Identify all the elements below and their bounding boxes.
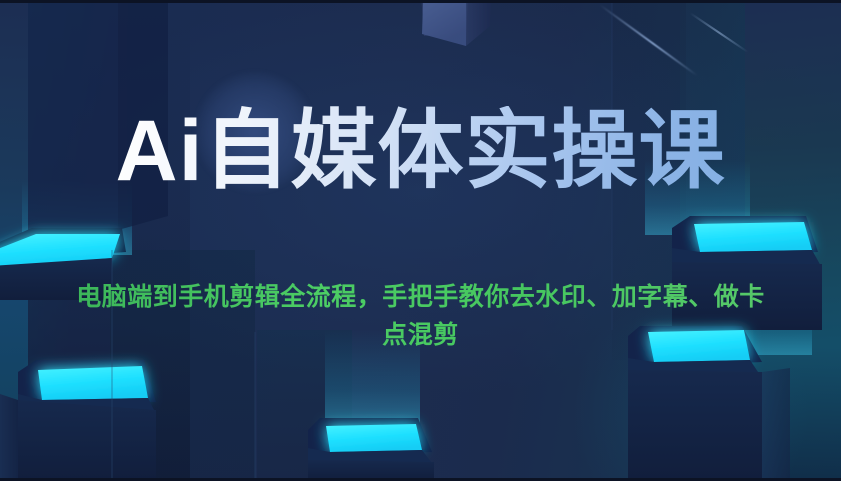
poster-canvas: Ai自媒体实操课 电脑端到手机剪辑全流程，手把手教你去水印、加字幕、做卡点混剪 — [0, 0, 841, 481]
decorative-shapes — [0, 0, 841, 481]
top-edge-bar — [0, 0, 841, 3]
cyan-box-bottom-left-icon — [0, 360, 156, 481]
faint-edge-lines-icon — [112, 0, 612, 481]
cyan-box-left-icon — [0, 228, 126, 300]
dark-monolith-top-left-icon — [28, 0, 168, 248]
cyan-box-right-icon — [672, 216, 822, 330]
cyan-box-bottom-right-icon — [628, 326, 790, 481]
dim-parallelogram-top-icon — [420, 0, 492, 46]
cyan-box-bottom-center-icon — [308, 418, 434, 481]
